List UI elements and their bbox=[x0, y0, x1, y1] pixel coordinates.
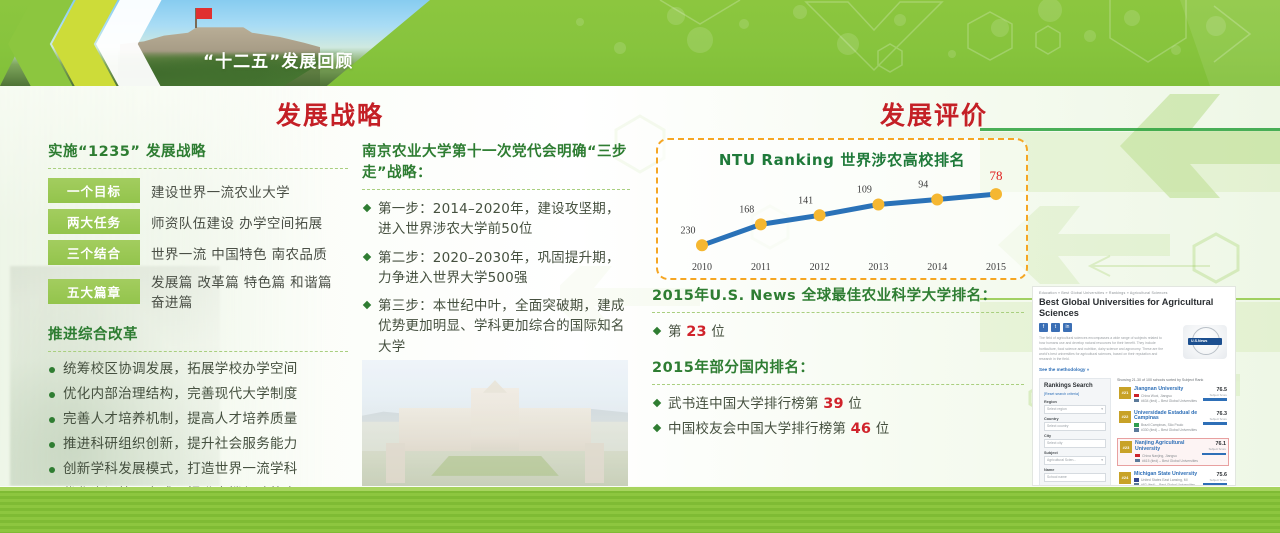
strategy-badge: 两大任务 bbox=[48, 209, 140, 234]
chart-x-label: 2014 bbox=[927, 262, 947, 273]
seal-band bbox=[1188, 338, 1222, 345]
strategy-text: 师资队伍建设 办学空间拓展 bbox=[151, 212, 323, 232]
chart-point bbox=[755, 218, 767, 230]
rankings-result-list: Showing 21-30 of 100 schools sorted by S… bbox=[1117, 378, 1229, 486]
score-bar bbox=[1203, 398, 1227, 401]
list-item: 第三步：本世纪中叶，全面突破期，建成优势更加明显、学科更加综合的国际知名大学 bbox=[362, 296, 630, 357]
strategy-text: 世界一流 中国特色 南农品质 bbox=[151, 243, 327, 263]
name-value: School name bbox=[1047, 475, 1067, 479]
chart-value-label: 230 bbox=[681, 225, 696, 236]
score-bar bbox=[1203, 422, 1227, 425]
score-label: Subject Score bbox=[1203, 393, 1227, 397]
three-step-list: 第一步：2014–2020年，建设攻坚期，进入世界涉农大学前50位 第二步：20… bbox=[362, 199, 630, 357]
university-location: United States East Lansing, MI bbox=[1134, 478, 1200, 482]
domestic-rank-list: 武书连中国大学排行榜第 39 位 中国校友会中国大学排行榜第 46 位 bbox=[652, 394, 1024, 439]
university-name[interactable]: Michigan State University bbox=[1134, 472, 1200, 478]
rankings-search-sidebar: Rankings Search [Reset search criteria] … bbox=[1039, 378, 1111, 486]
chart-value-label: 94 bbox=[918, 179, 928, 190]
city-input[interactable]: Select city bbox=[1044, 439, 1106, 448]
list-item: 武书连中国大学排行榜第 39 位 bbox=[652, 394, 1024, 414]
photo-overlay bbox=[362, 360, 628, 486]
country-input[interactable]: Select country bbox=[1044, 422, 1106, 431]
page-title: Best Global Universities for Agricultura… bbox=[1033, 295, 1235, 319]
score-bar bbox=[1203, 483, 1227, 486]
chart-line bbox=[702, 194, 996, 245]
row-info: Universidade Estadual de Campinas Brazil… bbox=[1134, 411, 1200, 432]
left-column: 实施“1235” 发展战略 一个目标 建设世界一流农业大学 两大任务 师资队伍建… bbox=[48, 142, 348, 533]
score-bar bbox=[1202, 453, 1226, 456]
list-item: 完善人才培养机制，提高人才培养质量 bbox=[48, 411, 348, 429]
left-section2-heading: 推进综合改革 bbox=[48, 325, 348, 346]
section-title-evaluation: 发展评价 bbox=[880, 96, 988, 132]
right-column: 2015年U.S. News 全球最佳农业科学大学排名： 第 23 位 2015… bbox=[652, 286, 1024, 443]
usnews-screenshot-thumbnail: Education » Best Global Universities » R… bbox=[1032, 286, 1236, 486]
rank-suffix: 位 bbox=[848, 396, 862, 412]
usnews-rank-list: 第 23 位 bbox=[652, 322, 1024, 342]
flag-icon bbox=[1134, 423, 1139, 427]
region-label: Region bbox=[1044, 400, 1106, 404]
score-label: Subject Score bbox=[1203, 417, 1227, 421]
divider-dashed bbox=[48, 351, 348, 352]
chart-value-label: 168 bbox=[739, 204, 754, 215]
divider-dashed bbox=[652, 312, 1024, 313]
breadcrumb: Education » Best Global Universities » R… bbox=[1033, 287, 1235, 295]
rank-number: 23 bbox=[686, 324, 707, 340]
score-cell: 75.6 Subject Score bbox=[1203, 472, 1227, 487]
list-item: 第二步：2020–2030年，巩固提升期，力争进入世界大学500强 bbox=[362, 248, 630, 289]
rank-prefix: 武书连中国大学排行榜第 bbox=[668, 396, 819, 412]
list-item: 创新学科发展模式，打造世界一流学科 bbox=[48, 461, 348, 479]
strategy-badge: 五大篇章 bbox=[48, 279, 140, 304]
divider-dashed bbox=[652, 384, 1024, 385]
university-location: China Wuxi, Jiangsu bbox=[1134, 394, 1200, 398]
chart-point bbox=[990, 188, 1002, 200]
strategy-row: 两大任务 师资队伍建设 办学空间拓展 bbox=[48, 209, 348, 234]
flag-icon bbox=[1134, 478, 1139, 482]
list-item: 统筹校区协调发展，拓展学校办学空间 bbox=[48, 361, 348, 379]
left-section1-heading: 实施“1235” 发展战略 bbox=[48, 142, 348, 163]
globe-icon bbox=[1134, 428, 1139, 432]
chart-point bbox=[814, 209, 826, 221]
facebook-icon[interactable]: f bbox=[1039, 323, 1048, 332]
strategy-row: 五大篇章 发展篇 改革篇 特色篇 和谐篇 奋进篇 bbox=[48, 271, 348, 311]
rank-prefix: 第 bbox=[668, 324, 682, 340]
chevron-down-icon: ▾ bbox=[1101, 407, 1103, 411]
chart-point bbox=[931, 193, 943, 205]
usnews-heading: 2015年U.S. News 全球最佳农业科学大学排名： bbox=[652, 286, 1024, 307]
ntu-ranking-chart: NTU Ranking 世界涉农高校排名 2301681411099478 20… bbox=[656, 138, 1028, 280]
page-footer-band bbox=[0, 487, 1280, 533]
rank-number: 39 bbox=[823, 396, 844, 412]
flag-icon bbox=[1135, 454, 1140, 458]
university-location: Brazil Campinas, São Paulo bbox=[1134, 423, 1200, 427]
list-item: 第一步：2014–2020年，建设攻坚期，进入世界涉农大学前50位 bbox=[362, 199, 630, 240]
row-info: Jiangnan University China Wuxi, Jiangsu … bbox=[1134, 387, 1200, 403]
chart-svg: 2301681411099478 20102011201220132014201… bbox=[658, 140, 1026, 278]
table-row[interactable]: #22 Universidade Estadual de Campinas Br… bbox=[1117, 409, 1229, 434]
strategy-text: 发展篇 改革篇 特色篇 和谐篇 奋进篇 bbox=[151, 271, 348, 311]
name-input[interactable]: School name bbox=[1044, 473, 1106, 482]
region-value: Select region bbox=[1047, 407, 1067, 411]
page-header: “十二五”发展回顾 bbox=[0, 0, 1280, 86]
university-name[interactable]: Jiangnan University bbox=[1134, 387, 1200, 393]
row-info: Nanjing Agricultural University China Na… bbox=[1135, 441, 1199, 462]
middle-column: 南京农业大学第十一次党代会明确“三步走”战略： 第一步：2014–2020年，建… bbox=[362, 142, 630, 365]
table-row[interactable]: #21 Jiangnan University China Wuxi, Jian… bbox=[1117, 385, 1229, 405]
reset-search-link[interactable]: [Reset search criteria] bbox=[1044, 392, 1106, 396]
university-overall-rank: #82 (tied) – Best Global Universities bbox=[1134, 483, 1200, 486]
region-select[interactable]: Select region▾ bbox=[1044, 405, 1106, 414]
table-row[interactable]: #24 Michigan State University United Sta… bbox=[1117, 470, 1229, 487]
usnews-seal-icon bbox=[1183, 325, 1227, 359]
university-name[interactable]: Universidade Estadual de Campinas bbox=[1134, 411, 1200, 422]
subject-label: Subject bbox=[1044, 451, 1106, 455]
subject-select[interactable]: Agricultural Scien...▾ bbox=[1044, 456, 1106, 465]
chart-x-label: 2010 bbox=[692, 262, 712, 273]
strategy-badge: 一个目标 bbox=[48, 178, 140, 203]
strategy-row: 三个结合 世界一流 中国特色 南农品质 bbox=[48, 240, 348, 265]
globe-icon bbox=[1134, 483, 1139, 486]
rank-suffix: 位 bbox=[711, 324, 725, 340]
chevron-down-icon: ▾ bbox=[1101, 458, 1103, 462]
strategy-badge: 三个结合 bbox=[48, 240, 140, 265]
list-item: 推进科研组织创新，提升社会服务能力 bbox=[48, 436, 348, 454]
chart-x-label: 2011 bbox=[751, 262, 771, 273]
chart-x-label: 2013 bbox=[868, 262, 888, 273]
twitter-icon[interactable]: t bbox=[1051, 323, 1060, 332]
section-title-strategy: 发展战略 bbox=[276, 96, 384, 132]
chart-point bbox=[696, 239, 708, 251]
linkedin-icon[interactable]: in bbox=[1063, 323, 1072, 332]
university-overall-rank: #634 (tied) – Best Global Universities bbox=[1134, 399, 1200, 403]
score-label: Subject Score bbox=[1202, 447, 1226, 451]
chart-value-label: 109 bbox=[857, 185, 872, 196]
china-flag-icon bbox=[196, 8, 212, 19]
score-cell: 76.5 Subject Score bbox=[1203, 387, 1227, 403]
rank-badge: #21 bbox=[1119, 387, 1131, 399]
list-item: 中国校友会中国大学排行榜第 46 位 bbox=[652, 419, 1024, 439]
globe-icon bbox=[1135, 459, 1140, 463]
chart-value-label: 78 bbox=[990, 168, 1003, 183]
rank-suffix: 位 bbox=[876, 421, 890, 437]
name-label: Name bbox=[1044, 468, 1106, 472]
domestic-heading: 2015年部分国内排名： bbox=[652, 358, 1024, 379]
country-value: Select country bbox=[1047, 424, 1069, 428]
campus-main-building-photo bbox=[362, 360, 628, 486]
rankings-body: Rankings Search [Reset search criteria] … bbox=[1033, 372, 1235, 486]
university-overall-rank: #330 (tied) – Best Global Universities bbox=[1134, 428, 1200, 432]
chart-value-labels: 2301681411099478 bbox=[681, 168, 1003, 236]
rank-badge: #24 bbox=[1119, 472, 1131, 484]
divider-dashed bbox=[362, 189, 630, 190]
score-cell: 76.3 Subject Score bbox=[1203, 411, 1227, 432]
chart-x-axis-labels: 201020112012201320142015 bbox=[692, 262, 1006, 273]
rank-badge: #23 bbox=[1120, 441, 1132, 453]
list-item: 第 23 位 bbox=[652, 322, 1024, 342]
strategy-row: 一个目标 建设世界一流农业大学 bbox=[48, 178, 348, 203]
globe-icon bbox=[1134, 399, 1139, 403]
strategy-text: 建设世界一流农业大学 bbox=[151, 181, 290, 201]
table-row-highlighted[interactable]: #23 Nanjing Agricultural University Chin… bbox=[1117, 438, 1229, 465]
poster-page: “十二五”发展回顾 发展战略 发展评价 实施“1235” 发展战略 一个目标 建… bbox=[0, 0, 1280, 533]
flag-icon bbox=[1134, 394, 1139, 398]
list-item: 优化内部治理结构，完善现代大学制度 bbox=[48, 386, 348, 404]
chart-x-label: 2015 bbox=[986, 262, 1006, 273]
country-label: Country bbox=[1044, 417, 1106, 421]
university-name[interactable]: Nanjing Agricultural University bbox=[1135, 441, 1199, 452]
three-step-heading: 南京农业大学第十一次党代会明确“三步走”战略： bbox=[362, 142, 630, 184]
score-cell: 76.1 Subject Score bbox=[1202, 441, 1226, 462]
rank-number: 46 bbox=[851, 421, 872, 437]
university-location: China Nanjing, Jiangsu bbox=[1135, 454, 1199, 458]
rank-prefix: 中国校友会中国大学排行榜第 bbox=[668, 421, 846, 437]
rank-badge: #22 bbox=[1119, 411, 1131, 423]
city-label: City bbox=[1044, 434, 1106, 438]
divider-dashed bbox=[48, 168, 348, 169]
subject-value: Agricultural Scien... bbox=[1047, 458, 1076, 462]
chart-value-label: 141 bbox=[798, 195, 813, 206]
chart-point bbox=[872, 199, 884, 211]
chart-x-label: 2012 bbox=[810, 262, 830, 273]
row-info: Michigan State University United States … bbox=[1134, 472, 1200, 487]
score-label: Subject Score bbox=[1203, 478, 1227, 482]
banner-title: “十二五”发展回顾 bbox=[203, 47, 353, 72]
university-overall-rank: #615 (tied) – Best Global Universities bbox=[1135, 459, 1199, 463]
sidebar-title: Rankings Search bbox=[1044, 383, 1106, 389]
city-value: Select city bbox=[1047, 441, 1062, 445]
showing-count: Showing 21-30 of 100 schools sorted by S… bbox=[1117, 378, 1229, 382]
methodology-link[interactable]: See the methodology » bbox=[1033, 363, 1235, 372]
